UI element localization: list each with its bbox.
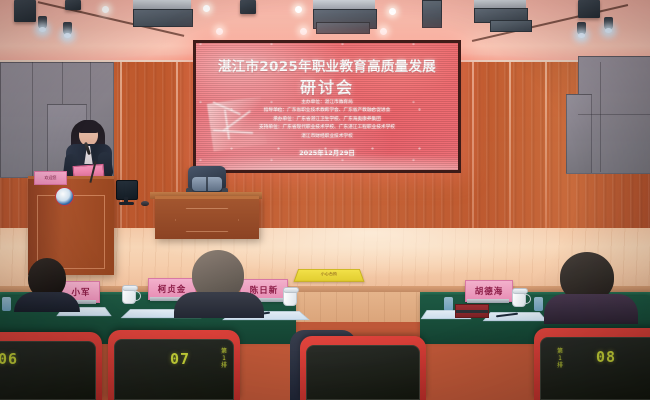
wall-seam (545, 62, 547, 232)
organizer-line: 主办单位：湛江市教育局 (196, 99, 458, 107)
attendee-person (544, 252, 638, 320)
desktop-monitor (116, 180, 136, 205)
school-crest-icon (55, 187, 74, 206)
tea-cup (122, 287, 136, 304)
track-light (63, 22, 72, 35)
audience-seat-06[interactable]: 06 (0, 332, 102, 400)
tea-cup (512, 290, 526, 307)
downlight (216, 28, 223, 35)
acoustic-panel-seam (32, 62, 33, 176)
seat-number: 06 (0, 350, 18, 368)
downlight (102, 6, 109, 13)
projector-panel (316, 22, 370, 34)
track-light (38, 16, 47, 29)
tea-cup-lid (283, 287, 299, 293)
water-bottle (534, 297, 543, 311)
ceiling-speaker (240, 0, 256, 14)
name-placard-stand (467, 299, 509, 303)
led-screen: 湛江市2025年职业教育高质量发展 研讨会 主办单位：湛江市教育局 指导单位：广… (196, 43, 458, 170)
projector-panel (133, 9, 193, 27)
downlight (295, 6, 302, 13)
projector-panel (490, 20, 532, 32)
chair-cushion-split (206, 177, 208, 191)
stage-floor-sign: 小心台阶 (293, 269, 364, 282)
acoustic-panel-seam (578, 114, 650, 115)
downlight (380, 28, 387, 35)
ceiling-speaker (578, 0, 600, 18)
podium-name-card: 欢迎您 (34, 171, 67, 185)
head-desk (155, 196, 259, 239)
water-bottle (2, 297, 11, 311)
desk-panel-trim (175, 208, 239, 232)
ceiling-speaker (65, 0, 81, 10)
seat-row-label: 第1排 (220, 348, 228, 369)
acoustic-panel-seam (600, 62, 601, 172)
ceiling-speaker (14, 0, 36, 22)
seat-back-panel (306, 345, 420, 400)
seminar-date: 2025年12月29日 (196, 147, 458, 157)
led-screen-frame: 湛江市2025年职业教育高质量发展 研讨会 主办单位：湛江市教育局 指导单位：广… (193, 40, 461, 173)
conference-hall-photo: 湛江市2025年职业教育高质量发展 研讨会 主办单位：湛江市教育局 指导单位：广… (0, 0, 650, 400)
organizer-line: 湛江市财经职业技术学校 (196, 133, 458, 141)
stage-floor-sign-label: 小心台阶 (296, 271, 361, 276)
seat-row-label: 第1排 (556, 348, 564, 369)
audience-seat-08[interactable]: 第1排 08 (534, 328, 650, 400)
monitor-base (119, 202, 134, 205)
audience-seat-middle[interactable] (300, 336, 426, 400)
podium-name-card-label: 欢迎您 (35, 175, 66, 181)
downlight (203, 5, 210, 12)
attendee-person (174, 250, 264, 316)
tea-cup (283, 289, 297, 306)
organizer-line: 指导单位：广东省职业技术教育学会、广东省产教融合促进会 (196, 107, 458, 115)
audience-seat-07[interactable]: 07 第1排 (108, 330, 240, 400)
organizer-line: 支持单位：广东省现代职业技术学校、广东湛江工程职业技术学校 (196, 124, 458, 132)
screen-text-block: 湛江市2025年职业教育高质量发展 研讨会 主办单位：湛江市教育局 指导单位：广… (196, 43, 458, 170)
seat-number: 08 (596, 348, 616, 366)
speaker-hair-front (77, 120, 100, 133)
name-placard-label: 胡德海 (475, 285, 504, 297)
downlight (389, 8, 396, 15)
track-light (577, 22, 586, 35)
projector-panel (422, 0, 442, 28)
attendee-person (14, 258, 80, 310)
attendee-shoulders (174, 292, 264, 318)
attendee-shoulders (544, 294, 638, 324)
downlight (300, 28, 307, 35)
computer-mouse (141, 201, 149, 206)
organizer-line: 承办单位：广东省湛江卫生学校、广东海奥康养集团 (196, 116, 458, 124)
seminar-organizer-lines: 主办单位：湛江市教育局 指导单位：广东省职业技术教育学会、广东省产教融合促进会 … (196, 99, 458, 141)
seminar-title-line2: 研讨会 (196, 74, 458, 98)
seat-back-panel (114, 339, 234, 400)
seat-number: 07 (170, 350, 190, 368)
book-stack (455, 304, 489, 318)
attendee-shoulders (14, 292, 80, 312)
water-bottle (444, 297, 453, 311)
acoustic-panel (566, 94, 592, 174)
seminar-title-line1: 湛江市2025年职业教育高质量发展 (196, 55, 458, 75)
track-light (604, 17, 613, 30)
